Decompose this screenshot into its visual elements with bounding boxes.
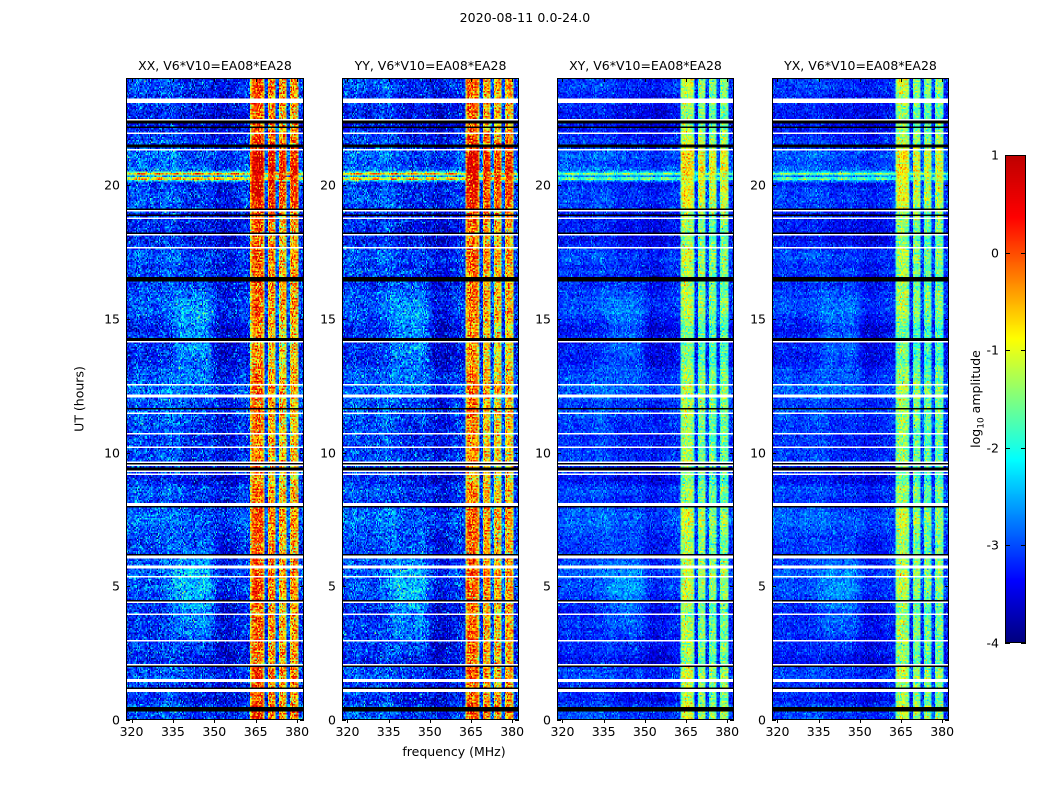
y-tick-mark bbox=[945, 185, 949, 186]
figure-canvas: 2020-08-11 0.0-24.0 XX, V6*V10=EA08*EA28… bbox=[0, 0, 1050, 800]
x-tick-mark bbox=[562, 719, 563, 723]
figure-suptitle: 2020-08-11 0.0-24.0 bbox=[0, 10, 1050, 25]
y-tick-label: 15 bbox=[750, 311, 766, 326]
y-tick-label: 5 bbox=[543, 579, 551, 594]
y-tick-mark bbox=[342, 720, 346, 721]
x-tick-mark bbox=[819, 78, 820, 82]
panel-title-xx: XX, V6*V10=EA08*EA28 bbox=[126, 58, 304, 74]
x-tick-mark bbox=[819, 719, 820, 723]
y-tick-label: 10 bbox=[320, 445, 336, 460]
colorbar-tick-mark bbox=[1005, 253, 1010, 254]
x-tick-mark bbox=[604, 78, 605, 82]
x-tick-mark bbox=[645, 78, 646, 82]
x-tick-mark bbox=[686, 719, 687, 723]
colorbar-label: log10 amplitude bbox=[968, 350, 987, 448]
x-tick-mark bbox=[430, 78, 431, 82]
y-tick-label: 0 bbox=[112, 713, 120, 728]
x-tick-labels-xx: 320335350365380 bbox=[126, 724, 304, 742]
x-tick-label: 320 bbox=[336, 724, 360, 739]
y-tick-mark bbox=[300, 319, 304, 320]
y-tick-mark bbox=[945, 319, 949, 320]
y-tick-mark bbox=[300, 453, 304, 454]
y-tick-mark bbox=[557, 453, 561, 454]
x-axis-label: frequency (MHz) bbox=[0, 744, 908, 759]
spectrogram-panel-yx[interactable] bbox=[772, 78, 949, 720]
x-tick-label: 365 bbox=[459, 724, 483, 739]
y-tick-label: 0 bbox=[758, 713, 766, 728]
colorbar-tick-mark bbox=[1005, 545, 1010, 546]
x-tick-label: 335 bbox=[592, 724, 616, 739]
spectrogram-image-yx bbox=[773, 79, 948, 719]
x-tick-mark bbox=[173, 78, 174, 82]
x-tick-labels-yy: 320335350365380 bbox=[342, 724, 519, 742]
panel-title-xy: XY, V6*V10=EA08*EA28 bbox=[557, 58, 734, 74]
y-tick-mark bbox=[557, 185, 561, 186]
y-tick-mark bbox=[342, 185, 346, 186]
x-tick-label: 380 bbox=[715, 724, 739, 739]
x-tick-mark bbox=[562, 78, 563, 82]
x-tick-label: 380 bbox=[500, 724, 524, 739]
y-tick-label: 20 bbox=[104, 178, 120, 193]
spectrogram-image-xx bbox=[127, 79, 303, 719]
y-tick-mark bbox=[557, 319, 561, 320]
y-tick-mark bbox=[557, 586, 561, 587]
x-tick-mark bbox=[471, 78, 472, 82]
x-tick-label: 320 bbox=[120, 724, 144, 739]
panel-title-yx: YX, V6*V10=EA08*EA28 bbox=[772, 58, 949, 74]
x-tick-mark bbox=[901, 78, 902, 82]
y-tick-mark bbox=[515, 185, 519, 186]
spectrogram-panel-yy[interactable] bbox=[342, 78, 519, 720]
colorbar-tick-mark bbox=[1021, 350, 1026, 351]
spectrogram-image-xy bbox=[558, 79, 733, 719]
colorbar-tick-mark bbox=[1005, 448, 1010, 449]
colorbar-tick-mark bbox=[1005, 643, 1010, 644]
colorbar-tick-label: -2 bbox=[987, 440, 999, 455]
panel-title-yy: YY, V6*V10=EA08*EA28 bbox=[342, 58, 519, 74]
x-tick-label: 365 bbox=[244, 724, 268, 739]
colorbar-tick-label: -1 bbox=[987, 343, 999, 358]
x-tick-mark bbox=[297, 78, 298, 82]
x-tick-mark bbox=[256, 719, 257, 723]
x-tick-label: 380 bbox=[285, 724, 309, 739]
x-tick-mark bbox=[256, 78, 257, 82]
y-tick-mark bbox=[300, 586, 304, 587]
x-tick-mark bbox=[942, 719, 943, 723]
y-tick-mark bbox=[772, 586, 776, 587]
y-tick-mark bbox=[515, 586, 519, 587]
colorbar-tick-mark bbox=[1005, 155, 1010, 156]
x-tick-mark bbox=[512, 78, 513, 82]
x-tick-mark bbox=[214, 78, 215, 82]
y-tick-mark bbox=[772, 720, 776, 721]
x-tick-label: 335 bbox=[377, 724, 401, 739]
x-tick-label: 320 bbox=[551, 724, 575, 739]
x-tick-mark bbox=[901, 719, 902, 723]
x-tick-labels-xy: 320335350365380 bbox=[557, 724, 734, 742]
y-tick-mark bbox=[126, 586, 130, 587]
y-tick-label: 10 bbox=[104, 445, 120, 460]
colorbar-label-sub: 10 bbox=[976, 417, 986, 428]
x-tick-mark bbox=[297, 719, 298, 723]
y-tick-mark bbox=[515, 720, 519, 721]
x-tick-label: 335 bbox=[807, 724, 831, 739]
x-tick-label: 380 bbox=[930, 724, 954, 739]
colorbar-gradient bbox=[1006, 156, 1025, 642]
colorbar-tick-mark bbox=[1021, 448, 1026, 449]
y-tick-mark bbox=[300, 720, 304, 721]
y-tick-mark bbox=[772, 453, 776, 454]
y-tick-mark bbox=[945, 720, 949, 721]
y-tick-mark bbox=[730, 720, 734, 721]
x-tick-mark bbox=[777, 78, 778, 82]
x-tick-mark bbox=[214, 719, 215, 723]
x-tick-mark bbox=[686, 78, 687, 82]
y-tick-label: 5 bbox=[328, 579, 336, 594]
colorbar-tick-label: -4 bbox=[987, 636, 999, 651]
colorbar-tick-mark bbox=[1021, 155, 1026, 156]
colorbar-tick-mark bbox=[1021, 643, 1026, 644]
y-tick-mark bbox=[126, 453, 130, 454]
x-tick-mark bbox=[132, 719, 133, 723]
y-tick-mark bbox=[126, 319, 130, 320]
y-tick-label: 5 bbox=[112, 579, 120, 594]
x-tick-label: 350 bbox=[633, 724, 657, 739]
colorbar-tick-label: 0 bbox=[991, 245, 999, 260]
y-tick-mark bbox=[515, 319, 519, 320]
x-tick-mark bbox=[173, 719, 174, 723]
x-tick-mark bbox=[604, 719, 605, 723]
x-tick-mark bbox=[727, 78, 728, 82]
x-tick-label: 350 bbox=[418, 724, 442, 739]
x-tick-mark bbox=[512, 719, 513, 723]
y-tick-label: 15 bbox=[104, 311, 120, 326]
y-tick-label: 15 bbox=[535, 311, 551, 326]
y-tick-label: 20 bbox=[320, 178, 336, 193]
x-tick-label: 365 bbox=[889, 724, 913, 739]
x-tick-mark bbox=[347, 78, 348, 82]
spectrogram-panel-xx[interactable] bbox=[126, 78, 304, 720]
x-tick-mark bbox=[389, 719, 390, 723]
x-tick-mark bbox=[430, 719, 431, 723]
y-tick-mark bbox=[772, 319, 776, 320]
colorbar-tick-mark bbox=[1021, 253, 1026, 254]
colorbar bbox=[1005, 155, 1026, 643]
x-tick-mark bbox=[389, 78, 390, 82]
y-tick-label: 10 bbox=[750, 445, 766, 460]
x-tick-label: 350 bbox=[848, 724, 872, 739]
y-tick-label: 15 bbox=[320, 311, 336, 326]
y-tick-mark bbox=[557, 720, 561, 721]
y-tick-label: 20 bbox=[535, 178, 551, 193]
y-tick-mark bbox=[342, 319, 346, 320]
x-tick-mark bbox=[132, 78, 133, 82]
x-tick-label: 350 bbox=[202, 724, 226, 739]
x-tick-label: 365 bbox=[674, 724, 698, 739]
y-tick-mark bbox=[730, 185, 734, 186]
colorbar-tick-mark bbox=[1021, 545, 1026, 546]
y-tick-label: 5 bbox=[758, 579, 766, 594]
y-tick-label: 0 bbox=[543, 713, 551, 728]
y-axis-label: UT (hours) bbox=[72, 366, 87, 432]
colorbar-label-main: log bbox=[968, 429, 983, 448]
colorbar-tick-label: 1 bbox=[991, 148, 999, 163]
y-tick-mark bbox=[730, 319, 734, 320]
x-tick-mark bbox=[942, 78, 943, 82]
y-tick-mark bbox=[126, 185, 130, 186]
colorbar-tick-label: -3 bbox=[987, 538, 999, 553]
y-tick-label: 10 bbox=[535, 445, 551, 460]
y-tick-mark bbox=[342, 453, 346, 454]
y-tick-label: 20 bbox=[750, 178, 766, 193]
x-tick-label: 320 bbox=[766, 724, 790, 739]
y-tick-mark bbox=[515, 453, 519, 454]
spectrogram-image-yy bbox=[343, 79, 518, 719]
y-tick-mark bbox=[730, 453, 734, 454]
y-tick-mark bbox=[945, 586, 949, 587]
x-tick-label: 335 bbox=[161, 724, 185, 739]
y-tick-mark bbox=[342, 586, 346, 587]
y-tick-mark bbox=[300, 185, 304, 186]
x-tick-labels-yx: 320335350365380 bbox=[772, 724, 949, 742]
y-tick-mark bbox=[730, 586, 734, 587]
colorbar-tick-mark bbox=[1005, 350, 1010, 351]
spectrogram-panel-xy[interactable] bbox=[557, 78, 734, 720]
y-tick-mark bbox=[772, 185, 776, 186]
x-tick-mark bbox=[347, 719, 348, 723]
x-tick-mark bbox=[860, 78, 861, 82]
y-tick-mark bbox=[126, 720, 130, 721]
y-tick-mark bbox=[945, 453, 949, 454]
x-tick-mark bbox=[471, 719, 472, 723]
x-tick-mark bbox=[860, 719, 861, 723]
y-tick-label: 0 bbox=[328, 713, 336, 728]
x-tick-mark bbox=[777, 719, 778, 723]
x-tick-mark bbox=[727, 719, 728, 723]
colorbar-label-tail: amplitude bbox=[968, 350, 983, 417]
x-tick-mark bbox=[645, 719, 646, 723]
